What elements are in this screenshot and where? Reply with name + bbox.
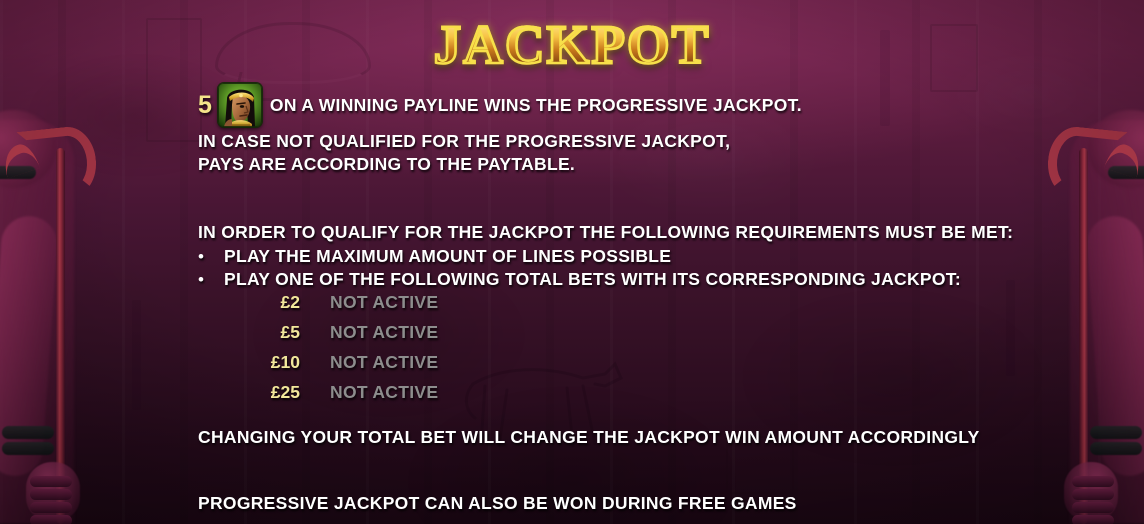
requirements-heading: IN ORDER TO QUALIFY FOR THE JACKPOT THE … bbox=[198, 222, 1013, 243]
figure-armband bbox=[0, 166, 36, 179]
figure-shoulder bbox=[1088, 110, 1144, 188]
bet-row: £25 NOT ACTIVE bbox=[228, 382, 438, 412]
crook-staff-hook bbox=[17, 124, 100, 202]
pharaoh-figure-left bbox=[0, 120, 118, 524]
symbol-requirement-row: 5 bbox=[198, 92, 802, 118]
figure-finger bbox=[30, 489, 72, 500]
crook-staff bbox=[56, 148, 65, 524]
figure-body bbox=[0, 120, 74, 524]
bet-row: £5 NOT ACTIVE bbox=[228, 322, 438, 352]
total-bet-change-note: CHANGING YOUR TOTAL BET WILL CHANGE THE … bbox=[198, 427, 980, 448]
jackpot-status: NOT ACTIVE bbox=[330, 352, 438, 373]
symbol-requirement-text: ON A WINNING PAYLINE WINS THE PROGRESSIV… bbox=[270, 95, 802, 116]
figure-wristband bbox=[1090, 426, 1142, 439]
jackpot-info-screen: JACKPOT 5 bbox=[0, 0, 1144, 524]
page-title: JACKPOT bbox=[434, 13, 711, 76]
pharaoh-symbol-icon bbox=[218, 83, 262, 127]
bullet-icon: • bbox=[198, 270, 224, 290]
crook-staff bbox=[1079, 148, 1088, 524]
figure-shoulder bbox=[0, 110, 56, 188]
requirement-item-2-label: PLAY ONE OF THE FOLLOWING TOTAL BETS WIT… bbox=[224, 269, 961, 290]
bet-amount: £10 bbox=[228, 352, 300, 373]
jackpot-status: NOT ACTIVE bbox=[330, 322, 438, 343]
hieroglyph-carving bbox=[132, 300, 141, 410]
figure-finger bbox=[30, 502, 72, 513]
figure-finger bbox=[1072, 515, 1114, 524]
bet-row: £2 NOT ACTIVE bbox=[228, 292, 438, 322]
not-qualified-line-2: PAYS ARE ACCORDING TO THE PAYTABLE. bbox=[198, 154, 575, 175]
figure-wristband bbox=[1090, 442, 1142, 455]
figure-armband bbox=[1108, 166, 1144, 179]
jackpot-status: NOT ACTIVE bbox=[330, 382, 438, 403]
bullet-icon: • bbox=[198, 247, 224, 267]
bet-amount: £5 bbox=[228, 322, 300, 343]
hieroglyph-carving bbox=[1006, 280, 1015, 376]
requirement-item-1: • PLAY THE MAXIMUM AMOUNT OF LINES POSSI… bbox=[198, 246, 671, 267]
pharaoh-symbol-art bbox=[218, 83, 262, 127]
jackpot-status: NOT ACTIVE bbox=[330, 292, 438, 313]
bet-amount: £2 bbox=[228, 292, 300, 313]
figure-finger bbox=[1072, 502, 1114, 513]
figure-arm bbox=[1085, 214, 1144, 477]
bet-row: £10 NOT ACTIVE bbox=[228, 352, 438, 382]
figure-wristband bbox=[2, 426, 54, 439]
free-games-note: PROGRESSIVE JACKPOT CAN ALSO BE WON DURI… bbox=[198, 493, 797, 514]
figure-hand bbox=[1064, 462, 1118, 520]
figure-body bbox=[1070, 120, 1144, 524]
figure-hand bbox=[26, 462, 80, 520]
page-title-wrap: JACKPOT bbox=[0, 13, 1144, 76]
symbol-count: 5 bbox=[198, 93, 212, 118]
figure-finger bbox=[1072, 476, 1114, 487]
figure-finger bbox=[30, 515, 72, 524]
figure-arm bbox=[0, 214, 59, 477]
animal-relief-carving bbox=[455, 348, 665, 466]
not-qualified-line-1: IN CASE NOT QUALIFIED FOR THE PROGRESSIV… bbox=[198, 131, 730, 152]
figure-finger bbox=[30, 476, 72, 487]
requirement-item-1-label: PLAY THE MAXIMUM AMOUNT OF LINES POSSIBL… bbox=[224, 246, 671, 267]
figure-finger bbox=[1072, 489, 1114, 500]
pharaoh-figure-right bbox=[1026, 120, 1144, 524]
bet-amount: £25 bbox=[228, 382, 300, 403]
figure-wristband bbox=[2, 442, 54, 455]
bet-jackpot-table: £2 NOT ACTIVE £5 NOT ACTIVE £10 NOT ACTI… bbox=[228, 292, 438, 412]
requirement-item-2: • PLAY ONE OF THE FOLLOWING TOTAL BETS W… bbox=[198, 269, 961, 290]
crook-staff-hook bbox=[1045, 124, 1128, 202]
